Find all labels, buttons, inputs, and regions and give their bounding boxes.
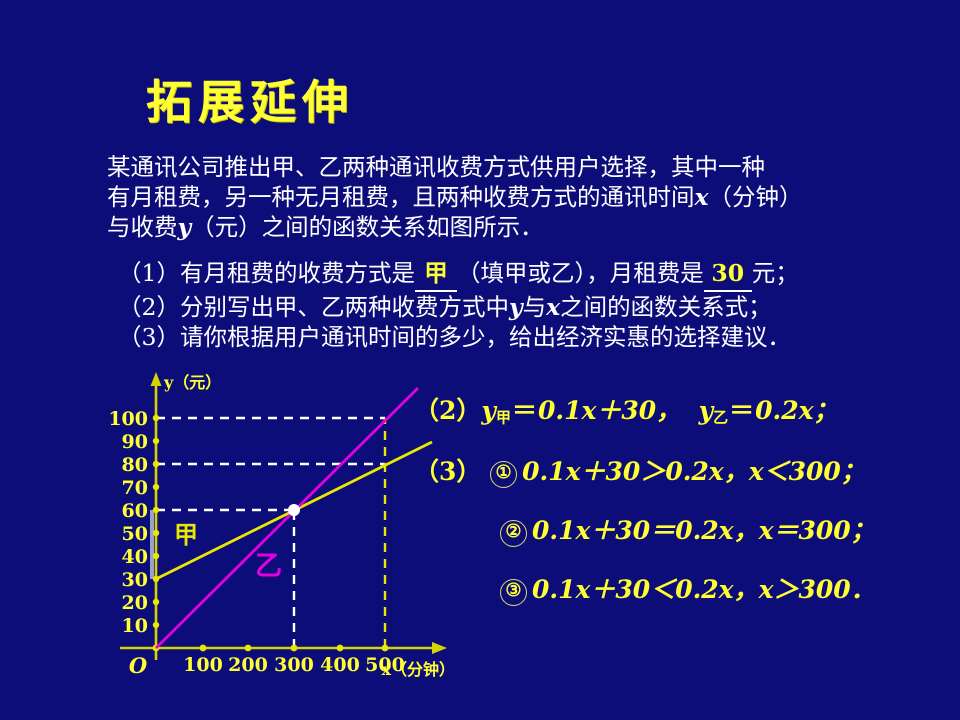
y-tick-50 (153, 530, 159, 536)
y-label-20: 20 (122, 592, 148, 614)
question-1-text-a: （1）有月租费的收费方式是 (118, 259, 415, 287)
stem-var-x: x (695, 183, 709, 211)
y-label-90: 90 (122, 431, 148, 453)
x-tick-300 (291, 645, 298, 652)
intersection-point (288, 504, 300, 516)
y-tick-70 (153, 484, 159, 490)
stem-line-2: 有月租费，另一种无月租费，且两种收费方式的通讯时间x（分钟） (107, 182, 960, 212)
question-2-var-x: x (546, 293, 560, 321)
answer-2-expr-jia: 0.1x＋30， (538, 396, 681, 425)
answer-3-label: （3） (414, 457, 481, 486)
question-1-blank-method: 甲 (415, 258, 457, 292)
problem-statement: 某通讯公司推出甲、乙两种通讯收费方式供用户选择，其中一种 有月租费，另一种无月租… (107, 152, 960, 242)
question-1-text-c: 元； (752, 259, 799, 287)
circled-number-1: ① (490, 461, 517, 488)
y-axis-arrow (151, 372, 162, 386)
y-label-100: 100 (108, 408, 148, 430)
slide-canvas: 拓展延伸 某通讯公司推出甲、乙两种通讯收费方式供用户选择，其中一种 有月租费，另… (0, 0, 960, 720)
question-2-text-c: 之间的函数关系式； (560, 293, 772, 321)
answer-row-3: （3） ①0.1x＋30＞0.2x，x＜300； (414, 459, 960, 488)
y-label-30: 30 (122, 569, 148, 591)
y-tick-20 (153, 599, 159, 605)
stem-line-3: 与收费y（元）之间的函数关系如图所示． (107, 212, 960, 242)
y-label-70: 70 (122, 477, 148, 499)
y-label-60: 60 (122, 500, 148, 522)
y-tick-labels: 100 90 80 70 60 50 40 30 20 10 (108, 408, 148, 637)
x-tick-100 (200, 645, 207, 652)
circled-number-2: ② (500, 520, 527, 547)
y-axis-title: y（元） (163, 373, 221, 392)
answer-2-equals-1: ＝ (511, 396, 538, 425)
answer-2-label: （2） (414, 396, 481, 425)
y-tick-100 (153, 415, 159, 421)
stem-line-3-b: （元）之间的函数关系如图所示． (191, 213, 544, 241)
answer-2-sub-yi: 乙 (713, 408, 728, 426)
x-label-400: 400 (320, 654, 360, 676)
series-label-yi: 乙 (255, 551, 282, 582)
answer-2-expr-yi: 0.2x； (755, 396, 838, 425)
question-list: （1）有月租费的收费方式是甲（填甲或乙），月租费是30元； （2）分别写出甲、乙… (118, 258, 960, 353)
stem-var-y: y (178, 213, 192, 241)
circled-number-3: ③ (500, 579, 527, 606)
answer-row-3-item-3: ③0.1x＋30＜0.2x，x＞300． (500, 577, 960, 606)
question-3: （3）请你根据用户通讯时间的多少，给出经济实惠的选择建议． (118, 322, 960, 353)
question-1: （1）有月租费的收费方式是甲（填甲或乙），月租费是30元； (118, 258, 960, 292)
y-tick-90 (153, 438, 159, 444)
stem-line-2-b: （分钟） (709, 183, 803, 211)
y-label-40: 40 (122, 546, 148, 568)
x-label-300: 300 (274, 654, 314, 676)
x-tick-400 (337, 645, 344, 652)
y-label-10: 10 (122, 615, 148, 637)
function-graph: 100 90 80 70 60 50 40 30 20 10 100 200 3… (0, 360, 470, 690)
x-tick-labels: 100 200 300 400 500 (183, 654, 405, 676)
page-title: 拓展延伸 (146, 78, 354, 126)
question-1-blank-fee: 30 (704, 258, 752, 292)
x-label-100: 100 (183, 654, 223, 676)
answer-2-y-yi: y (699, 396, 714, 425)
question-2-text-a: （2）分别写出甲、乙两种收费方式中 (118, 293, 509, 321)
stem-line-3-a: 与收费 (107, 213, 178, 241)
answer-3-item-2: 0.1x＋30＝0.2x，x＝300； (532, 516, 876, 545)
x-label-200: 200 (228, 654, 268, 676)
question-1-text-b: （填甲或乙），月租费是 (457, 259, 704, 287)
answer-row-2: （2）y甲＝0.1x＋30， y乙＝0.2x； (414, 398, 960, 425)
y-label-50: 50 (122, 523, 148, 545)
stem-line-2-a: 有月租费，另一种无月租费，且两种收费方式的通讯时间 (107, 183, 695, 211)
y-label-80: 80 (122, 454, 148, 476)
y-tick-10 (153, 622, 159, 628)
y-tick-60 (153, 507, 159, 513)
stem-line-1: 某通讯公司推出甲、乙两种通讯收费方式供用户选择，其中一种 (107, 152, 960, 182)
answer-2-y-jia: y (481, 396, 496, 425)
question-2: （2）分别写出甲、乙两种收费方式中y与x之间的函数关系式； (118, 292, 960, 323)
series-label-jia: 甲 (174, 520, 198, 549)
x-axis-title: x（分钟） (381, 660, 455, 679)
origin-label: O (129, 653, 148, 678)
x-tick-500 (382, 645, 389, 652)
x-tick-200 (245, 645, 252, 652)
question-2-var-y: y (509, 293, 523, 321)
answer-3-item-3: 0.1x＋30＜0.2x，x＞300． (532, 575, 876, 604)
y-tick-40 (153, 553, 159, 559)
question-2-text-b: 与 (523, 293, 547, 321)
answer-2-sub-jia: 甲 (496, 408, 511, 426)
answer-2-equals-2: ＝ (728, 396, 755, 425)
answer-panel: （2）y甲＝0.1x＋30， y乙＝0.2x； （3） ①0.1x＋30＞0.2… (414, 398, 960, 636)
x-axis-arrow (432, 642, 447, 654)
answer-row-3-item-2: ②0.1x＋30＝0.2x，x＝300； (500, 518, 960, 547)
y-tick-80 (153, 461, 159, 467)
graph-svg: 100 90 80 70 60 50 40 30 20 10 100 200 3… (0, 360, 470, 690)
series-line-yi (156, 388, 418, 648)
answer-3-item-1: 0.1x＋30＞0.2x，x＜300； (522, 457, 866, 486)
